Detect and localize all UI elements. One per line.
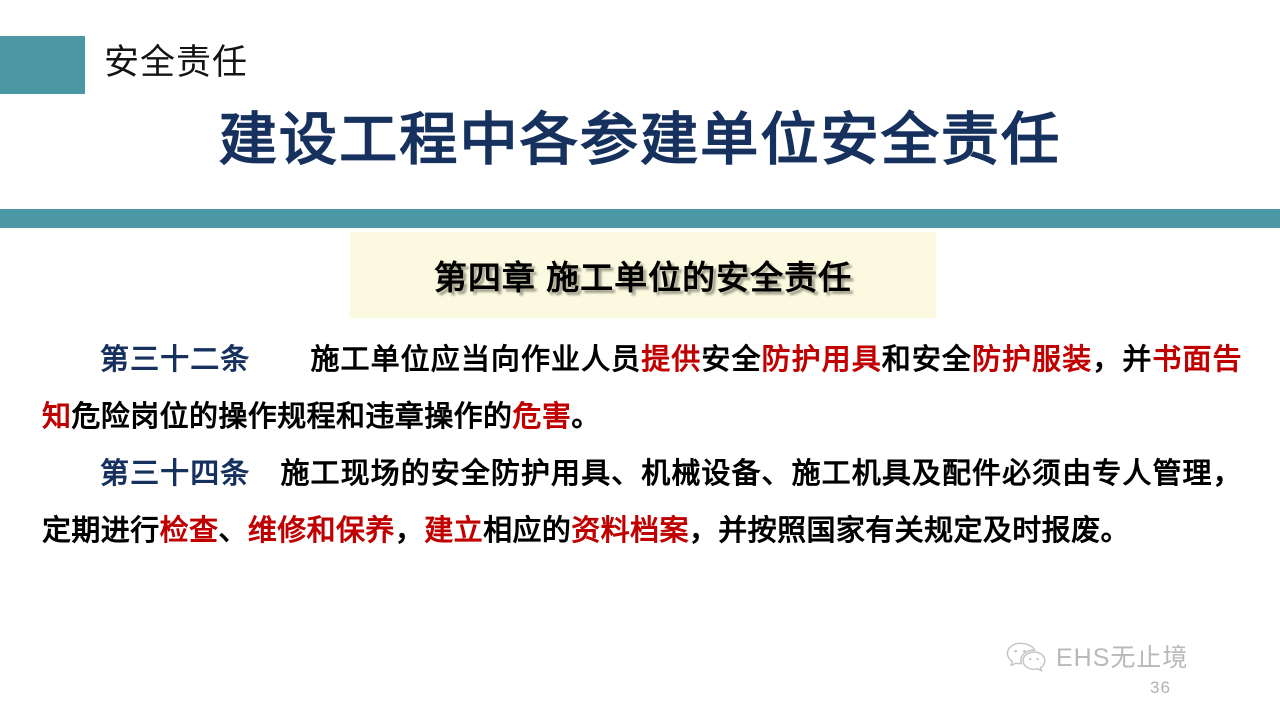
- text-run: 建立: [424, 515, 483, 547]
- text-run: 、: [218, 515, 247, 547]
- text-run: ，并: [1092, 344, 1152, 376]
- paragraph-article-32: 第三十二条 施工单位应当向作业人员提供安全防护用具和安全防护服装，并书面告知危险…: [42, 332, 1242, 446]
- text-run: 防护服装: [972, 344, 1092, 376]
- text-run: 。: [571, 401, 600, 433]
- text-run: 资料档案: [571, 515, 689, 547]
- page-title: 建设工程中各参建单位安全责任: [0, 104, 1280, 176]
- text-run: [250, 344, 310, 376]
- text-run: 和安全: [882, 344, 972, 376]
- text-run: 第三十四条: [100, 458, 250, 490]
- text-run: 第三十二条: [100, 344, 250, 376]
- wechat-icon: [1005, 640, 1047, 676]
- slide-kicker-row: 安全责任: [0, 36, 1280, 96]
- text-run: 危险岗位的操作规程和违章操作的: [71, 401, 512, 433]
- text-run: [250, 458, 280, 490]
- body-content: 第三十二条 施工单位应当向作业人员提供安全防护用具和安全防护服装，并书面告知危险…: [42, 332, 1242, 560]
- chapter-banner-label: 第四章 施工单位的安全责任: [434, 251, 852, 299]
- header-divider: [0, 209, 1280, 228]
- text-run: ，: [395, 515, 424, 547]
- text-run: 安全: [701, 344, 761, 376]
- text-run: 防护用具: [762, 344, 882, 376]
- text-run: 相应的: [483, 515, 571, 547]
- text-run: 危害: [512, 401, 571, 433]
- text-run: 检查: [160, 515, 219, 547]
- paragraph-article-34: 第三十四条 施工现场的安全防护用具、机械设备、施工机具及配件必须由专人管理，定期…: [42, 446, 1242, 560]
- text-run: 施工单位应当向作业人员: [310, 344, 641, 376]
- presentation-slide: 安全责任 建设工程中各参建单位安全责任 第四章 施工单位的安全责任 第三十二条 …: [0, 0, 1280, 720]
- slide-kicker-label: 安全责任: [104, 34, 248, 92]
- watermark: EHS无止境: [1005, 640, 1188, 676]
- chapter-banner: 第四章 施工单位的安全责任: [350, 232, 936, 318]
- text-run: 维修和保养: [248, 515, 395, 547]
- accent-swatch: [0, 36, 85, 94]
- watermark-label: EHS无止境: [1056, 643, 1188, 673]
- text-run: 提供: [641, 344, 701, 376]
- page-number: 36: [1150, 678, 1171, 698]
- text-run: ，并按照国家有关规定及时报废。: [689, 515, 1130, 547]
